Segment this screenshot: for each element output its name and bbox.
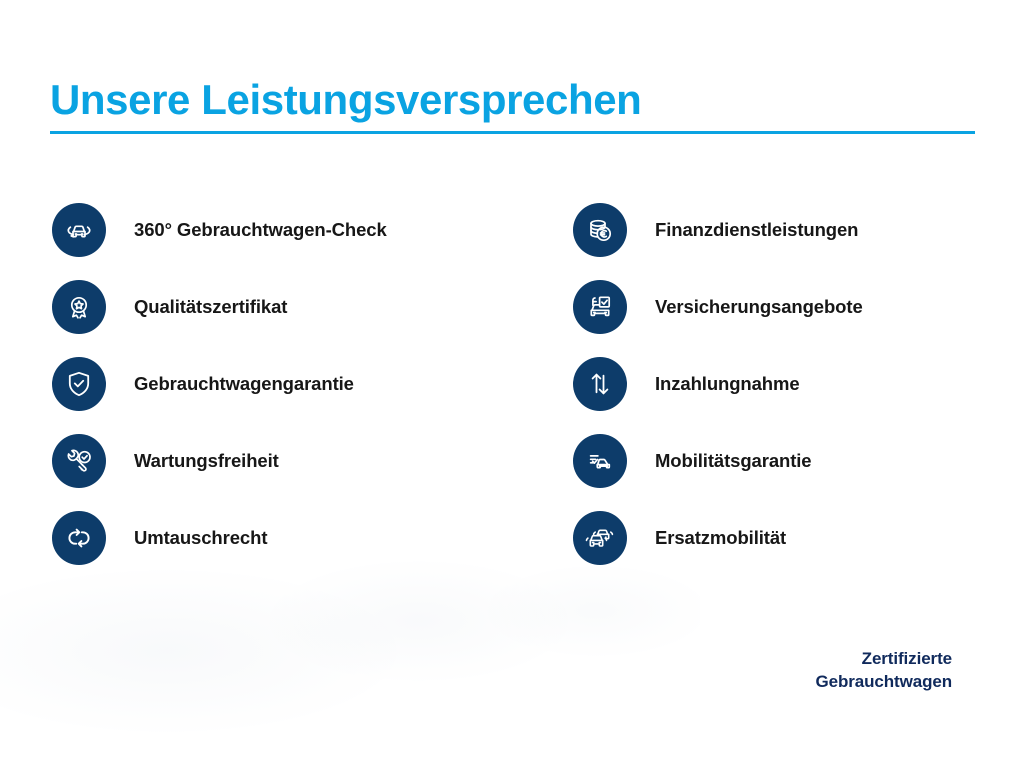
- coins-euro-icon: [573, 203, 627, 257]
- title-divider: [50, 131, 975, 134]
- wrench-check-icon: [52, 434, 106, 488]
- promise-label: Finanzdienstleistungen: [655, 219, 858, 241]
- promise-label: Qualitätszertifikat: [134, 296, 287, 318]
- promise-label: Gebrauchtwagengarantie: [134, 373, 354, 395]
- arrows-up-down-icon: [573, 357, 627, 411]
- promise-item-qualitaetszertifikat[interactable]: Qualitätszertifikat: [52, 280, 387, 334]
- slide-root: Unsere Leistungsversprechen 360° Gebrauc…: [0, 0, 1024, 768]
- promise-label: Versicherungsangebote: [655, 296, 863, 318]
- promise-label: Umtauschrecht: [134, 527, 267, 549]
- brand-line-1: Zertifizierte: [815, 648, 952, 671]
- two-cars-icon: [573, 511, 627, 565]
- promise-label: 360° Gebrauchtwagen-Check: [134, 219, 387, 241]
- promise-item-mobilitaetsgarantie[interactable]: Mobilitätsgarantie: [573, 434, 863, 488]
- promise-item-gebrauchtwagengarantie[interactable]: Gebrauchtwagengarantie: [52, 357, 387, 411]
- promise-item-finanzdienstleistungen[interactable]: Finanzdienstleistungen: [573, 203, 863, 257]
- promise-item-ersatzmobilitaet[interactable]: Ersatzmobilität: [573, 511, 863, 565]
- car-360-check-icon: [52, 203, 106, 257]
- promises-column-right: Finanzdienstleistungen Versicherungsange…: [573, 203, 863, 565]
- exchange-arrows-icon: [52, 511, 106, 565]
- car-checkbox-icon: [573, 280, 627, 334]
- brand-label: Zertifizierte Gebrauchtwagen: [815, 648, 952, 693]
- shield-check-icon: [52, 357, 106, 411]
- brand-line-2: Gebrauchtwagen: [815, 671, 952, 694]
- promise-item-inzahlungnahme[interactable]: Inzahlungnahme: [573, 357, 863, 411]
- promise-item-wartungsfreiheit[interactable]: Wartungsfreiheit: [52, 434, 387, 488]
- promise-item-umtauschrecht[interactable]: Umtauschrecht: [52, 511, 387, 565]
- promise-item-versicherungsangebote[interactable]: Versicherungsangebote: [573, 280, 863, 334]
- promises-column-left: 360° Gebrauchtwagen-Check Qualitätszerti…: [52, 203, 387, 565]
- promise-label: Ersatzmobilität: [655, 527, 786, 549]
- promise-label: Wartungsfreiheit: [134, 450, 279, 472]
- promise-label: Inzahlungnahme: [655, 373, 800, 395]
- promise-item-gebrauchtwagen-check[interactable]: 360° Gebrauchtwagen-Check: [52, 203, 387, 257]
- promise-label: Mobilitätsgarantie: [655, 450, 812, 472]
- page-title: Unsere Leistungsversprechen: [50, 77, 641, 122]
- award-rosette-icon: [52, 280, 106, 334]
- car-speed-check-icon: [573, 434, 627, 488]
